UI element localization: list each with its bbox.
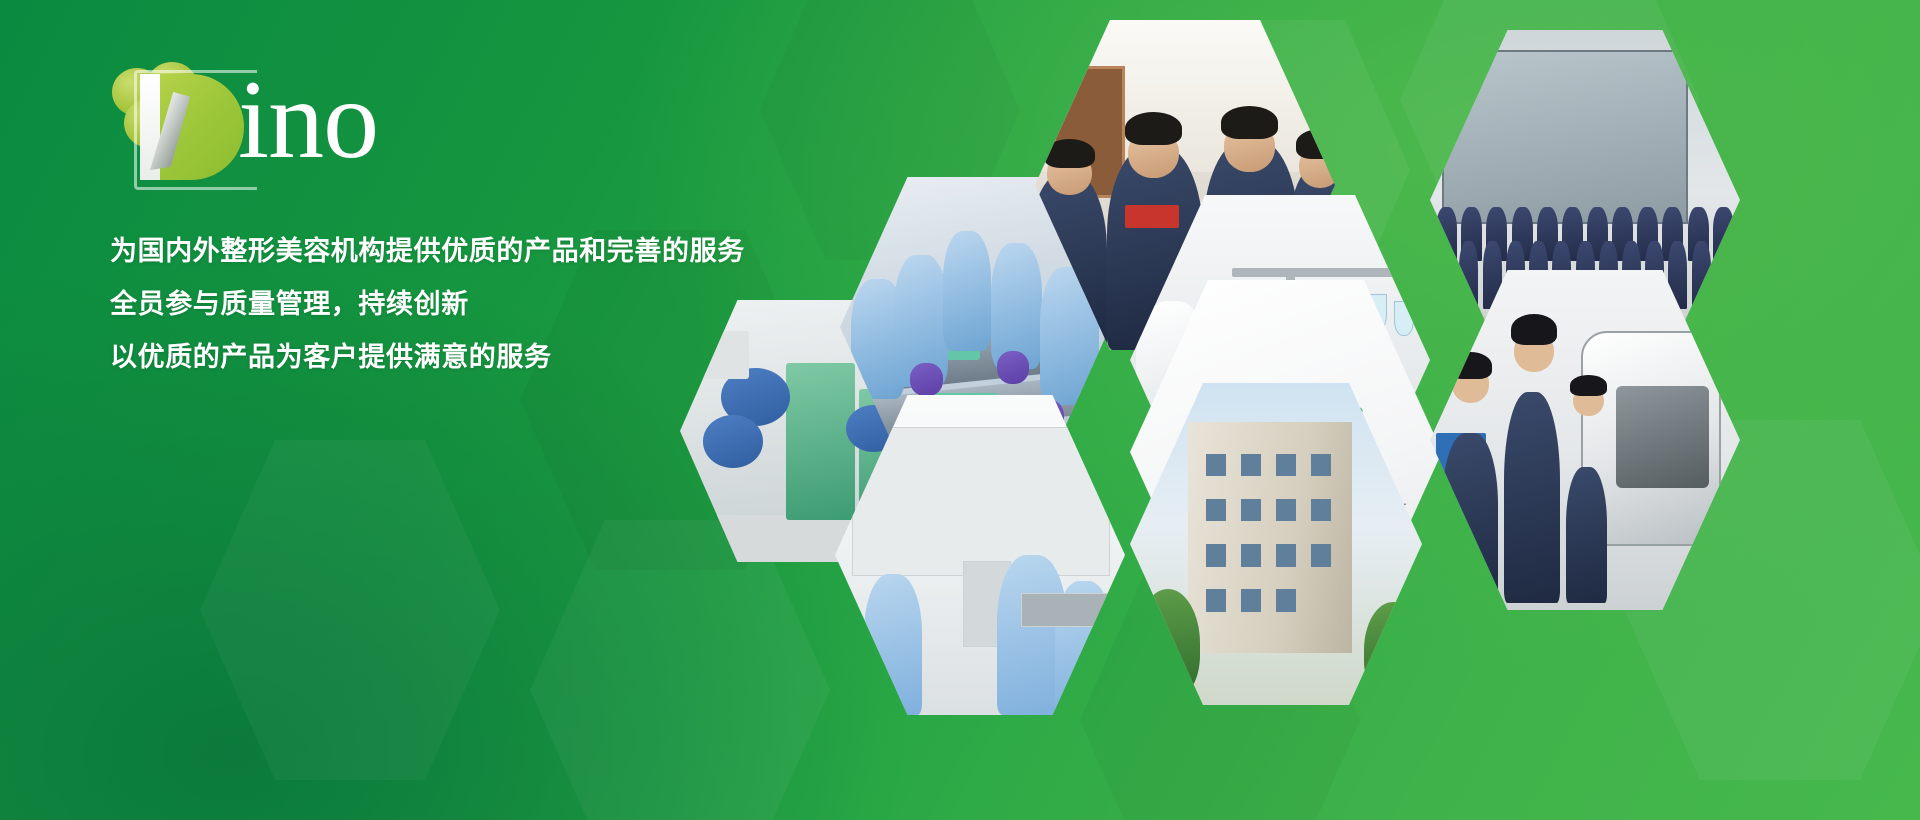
logo-wordmark: ino <box>238 66 378 174</box>
hero-banner: ino 为国内外整形美容机构提供优质的产品和完善的服务 全员参与质量管理，持续创… <box>0 0 1920 820</box>
background-hexagon-5 <box>530 520 830 820</box>
photo-hex-cnc-workshop[interactable] <box>1430 270 1740 610</box>
tagline-line-1: 为国内外整形美容机构提供优质的产品和完善的服务 <box>110 226 870 278</box>
background-hexagon-4 <box>200 440 500 780</box>
dino-logo: ino <box>110 60 870 180</box>
logo-d-letter-icon <box>132 74 244 182</box>
hexagon-photo-cluster: 迪诺® Dino Hangzhou Dino Medical Instrumen… <box>830 95 1920 735</box>
